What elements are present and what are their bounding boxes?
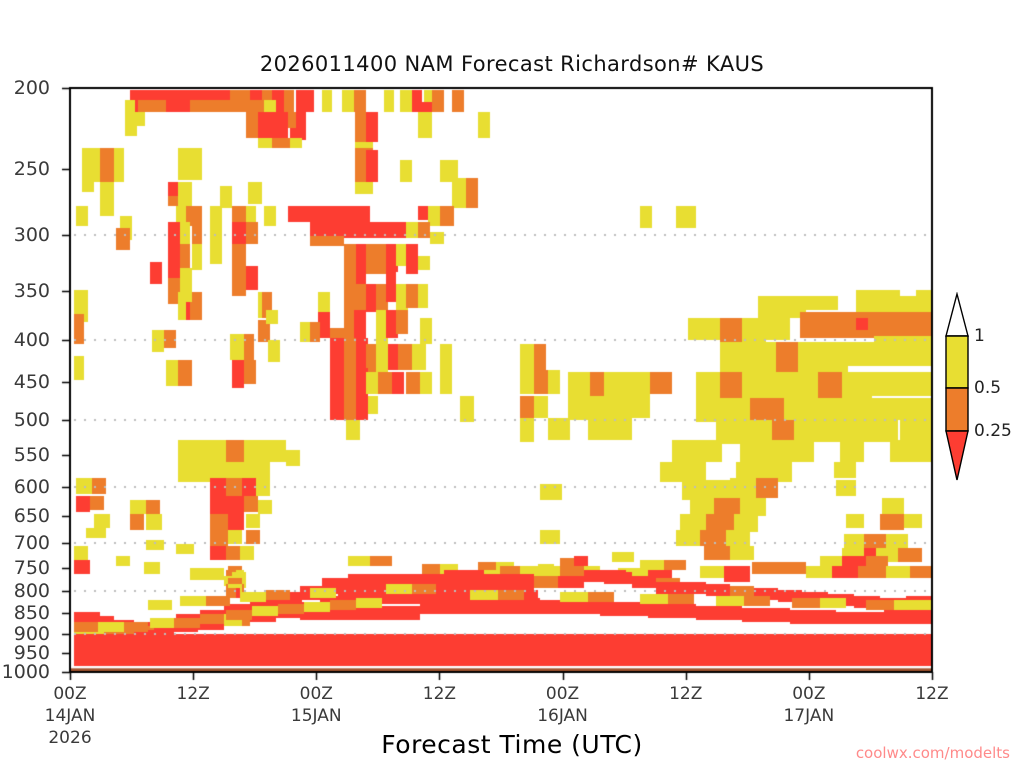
- colorbar-tick-label: 1: [974, 326, 985, 346]
- x-axis-tick-label: 12Z: [669, 684, 702, 704]
- x-axis-tick-label: 12Z: [423, 684, 456, 704]
- x-axis-tick-label: 14JAN: [45, 706, 96, 726]
- x-axis-tick-label: 12Z: [177, 684, 210, 704]
- x-axis-tick-label: 12Z: [915, 684, 948, 704]
- chart-page: 2026011400 NAM Forecast Richardson# KAUS…: [0, 0, 1024, 768]
- colorbar-tick-label: 0.25: [974, 421, 1012, 441]
- x-axis-tick-label: 15JAN: [291, 706, 342, 726]
- watermark: coolwx.com/modelts: [856, 744, 1010, 762]
- x-axis-tick-label: 00Z: [53, 684, 86, 704]
- colorbar-legend: 10.50.25: [938, 292, 1024, 484]
- colorbar-tick-label: 0.5: [974, 378, 1001, 398]
- x-axis-tick-label: 16JAN: [537, 706, 588, 726]
- x-axis-tick-label: 00Z: [546, 684, 579, 704]
- x-axis-tick-label: 00Z: [300, 684, 333, 704]
- x-axis-tick-label: 17JAN: [783, 706, 834, 726]
- x-axis-labels: 00Z14JAN202612Z00Z15JAN12Z00Z16JAN12Z00Z…: [0, 0, 1024, 768]
- x-axis-tick-label: 00Z: [792, 684, 825, 704]
